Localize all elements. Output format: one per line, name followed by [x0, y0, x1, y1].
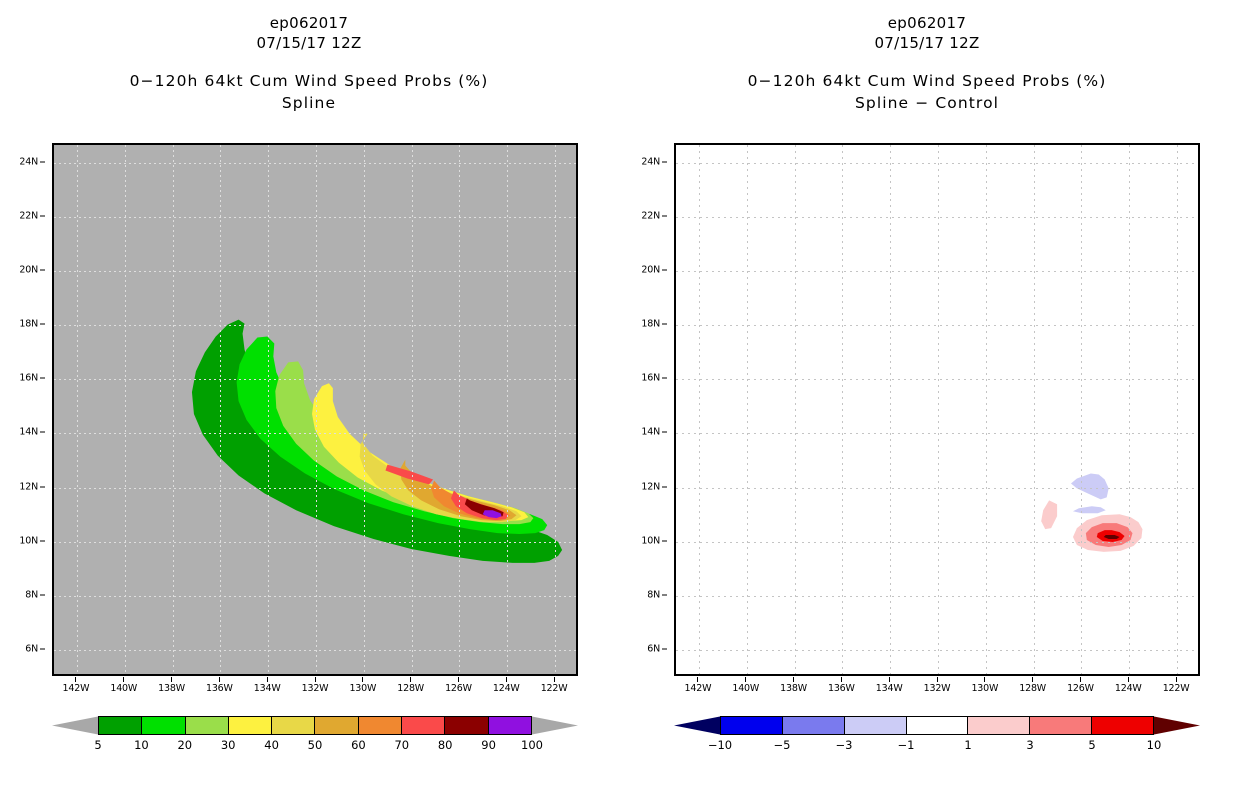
x-axis-tick-label: 140W: [726, 677, 766, 694]
colorbar-tick-label: 20: [177, 738, 192, 752]
colorbar-left-ticks: 5102030405060708090100: [52, 738, 578, 756]
x-axis-tick-label: 138W: [152, 677, 192, 694]
colorbar-tick-label: −5: [774, 738, 791, 752]
colorbar-cell: [721, 717, 783, 734]
x-axis-tick-label: 122W: [534, 677, 574, 694]
colorbar-tick-label: −10: [708, 738, 732, 752]
plot-title-right: 0−120h 64kt Cum Wind Speed Probs (%): [618, 70, 1236, 92]
colorbar-left-under-arrow: [52, 716, 98, 735]
x-axis-tick-label: 142W: [56, 677, 96, 694]
colorbar-tick-label: 10: [1147, 738, 1162, 752]
y-axis-tick-label: 10N: [633, 535, 667, 546]
y-axis-tick-label: 16N: [633, 373, 667, 384]
colorbar-cell: [968, 717, 1030, 734]
x-axis-tick-label: 132W: [917, 677, 957, 694]
colorbar-cell: [142, 717, 185, 734]
y-axis-tick-label: 14N: [633, 427, 667, 438]
colorbar-tick-label: 1: [964, 738, 971, 752]
x-axis-tick-label: 132W: [295, 677, 335, 694]
colorbar-cell: [1092, 717, 1153, 734]
x-axis-tick-label: 134W: [247, 677, 287, 694]
colorbar-tick-label: 40: [264, 738, 279, 752]
colorbar-tick-label: 50: [308, 738, 323, 752]
colorbar-tick-label: −1: [898, 738, 915, 752]
colorbar-tick-label: 100: [521, 738, 543, 752]
x-axis-tick-label: 128W: [391, 677, 431, 694]
y-axis-tick-label: 12N: [11, 481, 45, 492]
x-axis-tick-label: 130W: [343, 677, 383, 694]
y-axis-tick-label: 16N: [11, 373, 45, 384]
colorbar-tick-label: 70: [394, 738, 409, 752]
x-axis-tick-label: 126W: [1060, 677, 1100, 694]
x-axis-tick-label: 124W: [486, 677, 526, 694]
colorbar-tick-label: −3: [836, 738, 853, 752]
y-axis-tick-label: 6N: [633, 643, 667, 654]
colorbar-left-strip: [98, 716, 532, 735]
plot-title-left: 0−120h 64kt Cum Wind Speed Probs (%): [0, 70, 618, 92]
x-axis-tick-label: 128W: [1013, 677, 1053, 694]
colorbar-right-strip: [720, 716, 1154, 735]
y-axis-tick-label: 18N: [633, 319, 667, 330]
contour-plot-spline: [54, 145, 576, 674]
colorbar-cell: [229, 717, 272, 734]
x-axis-tick-label: 122W: [1156, 677, 1196, 694]
colorbar-cell: [783, 717, 845, 734]
date-time-left: 07/15/17 12Z: [0, 33, 618, 54]
colorbar-cell: [186, 717, 229, 734]
colorbar-tick-label: 3: [1026, 738, 1033, 752]
colorbar-cell: [99, 717, 142, 734]
colorbar-cell: [907, 717, 969, 734]
y-axis-tick-label: 20N: [11, 265, 45, 276]
colorbar-tick-label: 60: [351, 738, 366, 752]
x-axis-tick-label: 130W: [965, 677, 1005, 694]
map-area-difference: [674, 143, 1200, 676]
x-axis-tick-label: 134W: [869, 677, 909, 694]
colorbar-tick-label: 80: [438, 738, 453, 752]
colorbar-left-over-arrow: [532, 716, 578, 735]
y-axis-tick-label: 18N: [11, 319, 45, 330]
colorbar-right-ticks: −10−5−3−113510: [674, 738, 1200, 756]
colorbar-tick-label: 90: [481, 738, 496, 752]
x-axis-tick-label: 142W: [678, 677, 718, 694]
y-axis-tick-label: 20N: [633, 265, 667, 276]
y-axis-tick-label: 8N: [633, 589, 667, 600]
plot-subtitle-left: Spline: [0, 92, 618, 114]
colorbar-cell: [359, 717, 402, 734]
y-axis-tick-label: 24N: [11, 156, 45, 167]
right-panel-titles: ep062017 07/15/17 12Z 0−120h 64kt Cum Wi…: [618, 14, 1236, 114]
colorbar-probability: 5102030405060708090100: [52, 716, 578, 776]
colorbar-cell: [445, 717, 488, 734]
x-axis-tick-label: 136W: [821, 677, 861, 694]
y-axis-tick-label: 6N: [11, 643, 45, 654]
map-area-spline: [52, 143, 578, 676]
plot-subtitle-right: Spline − Control: [618, 92, 1236, 114]
colorbar-cell: [1030, 717, 1092, 734]
contour-plot-difference: [676, 145, 1198, 674]
x-axis-tick-label: 140W: [104, 677, 144, 694]
x-axis-tick-label: 138W: [774, 677, 814, 694]
left-panel-titles: ep062017 07/15/17 12Z 0−120h 64kt Cum Wi…: [0, 14, 618, 114]
colorbar-tick-label: 30: [221, 738, 236, 752]
y-axis-tick-label: 10N: [11, 535, 45, 546]
storm-id-right: ep062017: [618, 14, 1236, 33]
colorbar-cell: [489, 717, 531, 734]
y-axis-tick-label: 22N: [633, 211, 667, 222]
colorbar-cell: [315, 717, 358, 734]
colorbar-tick-label: 5: [1088, 738, 1095, 752]
diff-band-positive-small: [1041, 500, 1057, 529]
y-axis-tick-label: 14N: [11, 427, 45, 438]
panel-spline: ep062017 07/15/17 12Z 0−120h 64kt Cum Wi…: [0, 0, 618, 800]
colorbar-right-under-arrow: [674, 716, 720, 735]
colorbar-cell: [845, 717, 907, 734]
colorbar-cell: [272, 717, 315, 734]
colorbar-right-over-arrow: [1154, 716, 1200, 735]
diff-band-negative: [1071, 474, 1109, 514]
y-axis-tick-label: 12N: [633, 481, 667, 492]
x-axis-tick-label: 124W: [1108, 677, 1148, 694]
date-time-right: 07/15/17 12Z: [618, 33, 1236, 54]
y-axis-tick-label: 24N: [633, 156, 667, 167]
panel-spline-minus-control: ep062017 07/15/17 12Z 0−120h 64kt Cum Wi…: [618, 0, 1236, 800]
y-axis-tick-label: 8N: [11, 589, 45, 600]
colorbar-tick-label: 5: [94, 738, 101, 752]
colorbar-cell: [402, 717, 445, 734]
storm-id-left: ep062017: [0, 14, 618, 33]
colorbar-difference: −10−5−3−113510: [674, 716, 1200, 776]
x-axis-tick-label: 126W: [438, 677, 478, 694]
colorbar-tick-label: 10: [134, 738, 149, 752]
x-axis-tick-label: 136W: [199, 677, 239, 694]
y-axis-tick-label: 22N: [11, 211, 45, 222]
